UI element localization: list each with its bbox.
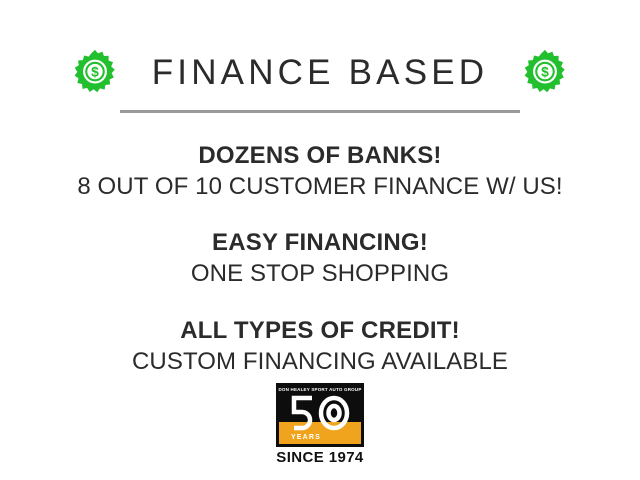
message-block: DOZENS OF BANKS! 8 OUT OF 10 CUSTOMER FI… — [0, 141, 640, 202]
gear-dollar-icon: $ — [72, 49, 118, 95]
block-subline: ONE STOP SHOPPING — [0, 259, 640, 290]
logo-since-text: SINCE 1974 — [276, 450, 363, 465]
anniversary-50-years-logo-icon: DON HEALEY SPORT AUTO GROUP YEARS — [276, 383, 364, 447]
block-headline: DOZENS OF BANKS! — [0, 141, 640, 172]
gear-dollar-icon: $ — [522, 49, 568, 95]
svg-text:YEARS: YEARS — [291, 434, 321, 441]
dealer-logo: DON HEALEY SPORT AUTO GROUP YEARS SINCE … — [0, 383, 640, 465]
svg-text:$: $ — [91, 65, 99, 80]
svg-text:DON HEALEY SPORT AUTO GROUP: DON HEALEY SPORT AUTO GROUP — [278, 387, 361, 392]
message-blocks: DOZENS OF BANKS! 8 OUT OF 10 CUSTOMER FI… — [0, 141, 640, 377]
svg-text:$: $ — [541, 65, 549, 80]
page-title: FINANCE BASED — [152, 55, 489, 90]
block-headline: ALL TYPES OF CREDIT! — [0, 316, 640, 347]
finance-based-slide: $ FINANCE BASED $ DOZENS OF BANKS! — [0, 0, 640, 480]
message-block: EASY FINANCING! ONE STOP SHOPPING — [0, 228, 640, 289]
block-subline: CUSTOM FINANCING AVAILABLE — [0, 347, 640, 378]
title-divider — [120, 110, 520, 113]
block-subline: 8 OUT OF 10 CUSTOMER FINANCE W/ US! — [0, 172, 640, 203]
message-block: ALL TYPES OF CREDIT! CUSTOM FINANCING AV… — [0, 316, 640, 377]
header-row: $ FINANCE BASED $ — [0, 42, 640, 102]
block-headline: EASY FINANCING! — [0, 228, 640, 259]
